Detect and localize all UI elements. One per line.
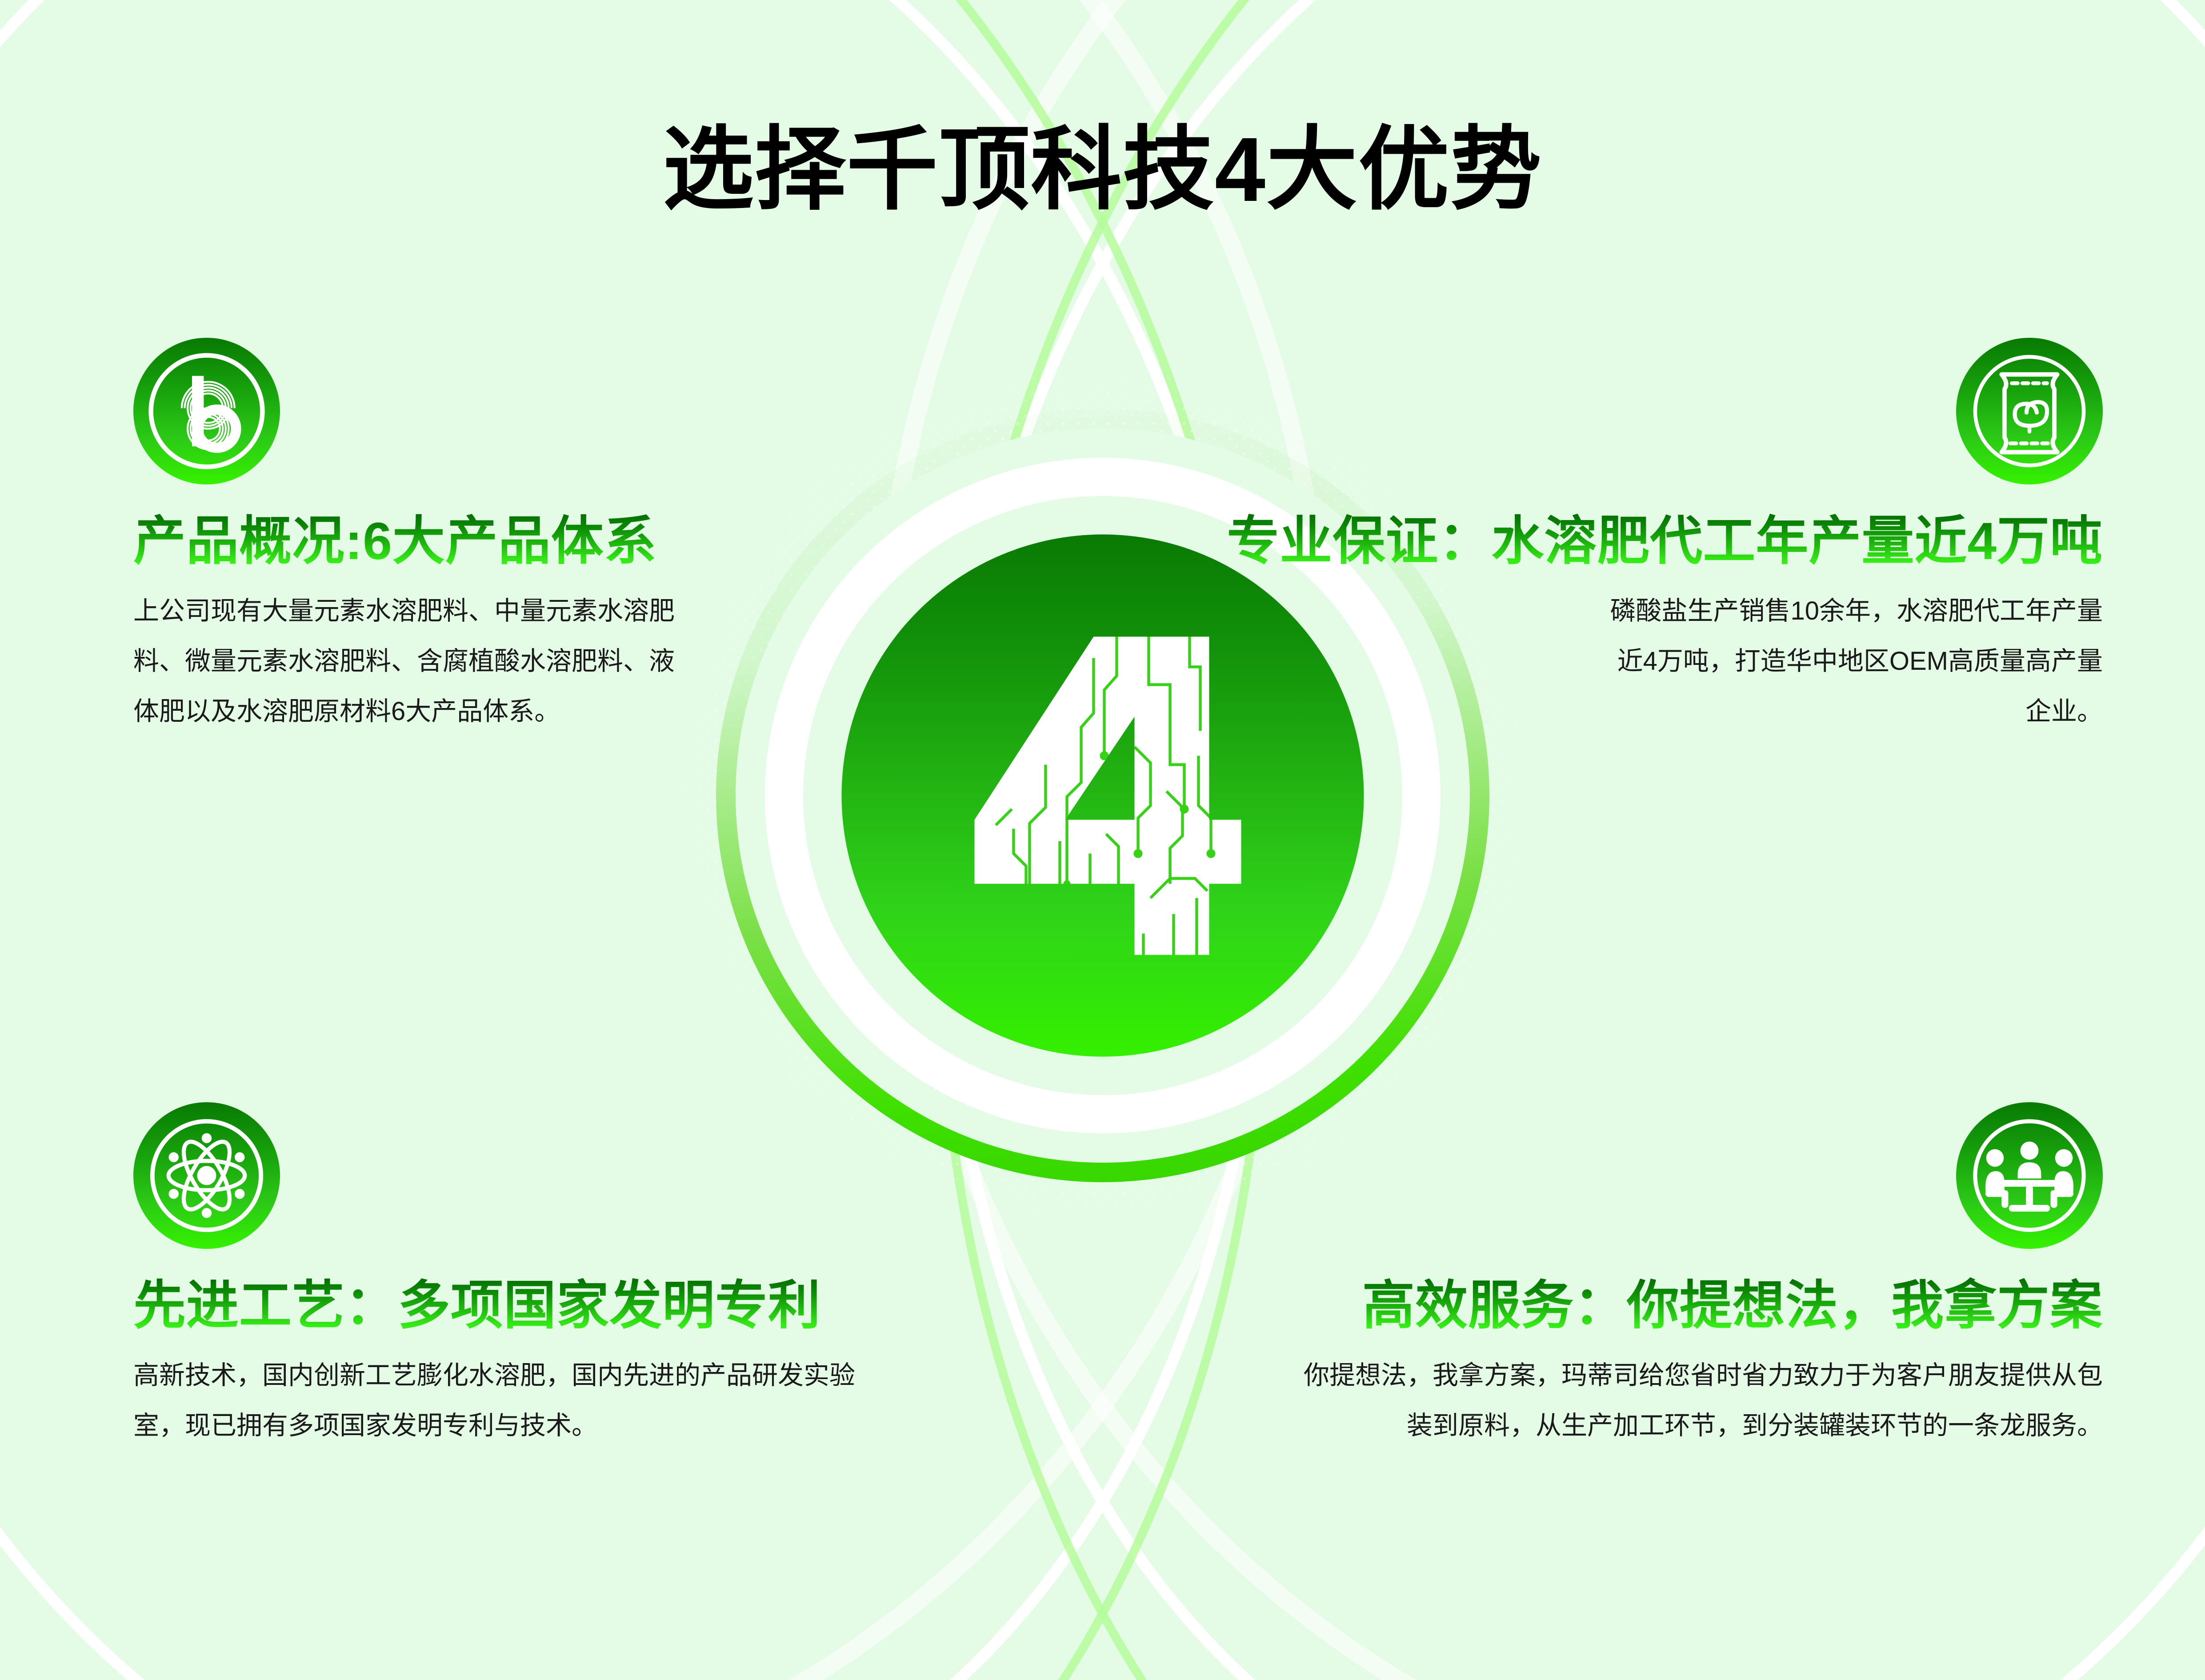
number-six-spiral-icon	[133, 338, 280, 484]
advantage-heading: 产品概况:6大产品体系	[133, 512, 711, 571]
advantage-body: 你提想法，我拿方案，玛蒂司给您省时省力致力于为客户朋友提供从包装到原料，从生产加…	[1303, 1350, 2103, 1451]
advantage-product-overview: 产品概况:6大产品体系 上公司现有大量元素水溶肥料、中量元素水溶肥料、微量元素水…	[133, 338, 711, 736]
advantage-professional-guarantee: 专业保证：水溶肥代工年产量近4万吨 磷酸盐生产销售10余年，水溶肥代工年产量近4…	[1156, 338, 2103, 736]
fertilizer-bag-icon	[1956, 338, 2103, 484]
advantage-body: 上公司现有大量元素水溶肥料、中量元素水溶肥料、微量元素水溶肥料、含腐植酸水溶肥料…	[133, 586, 689, 736]
atom-icon	[133, 1102, 280, 1249]
advantage-heading: 高效服务：你提想法，我拿方案	[1289, 1276, 2103, 1335]
advantage-heading: 先进工艺：多项国家发明专利	[133, 1276, 898, 1335]
meeting-table-icon	[1956, 1102, 2103, 1249]
advantage-body: 磷酸盐生产销售10余年，水溶肥代工年产量近4万吨，打造华中地区OEM高质量高产量…	[1601, 586, 2103, 736]
advantage-body: 高新技术，国内创新工艺膨化水溶肥，国内先进的产品研发实验室，现已拥有多项国家发明…	[133, 1350, 884, 1451]
advantage-advanced-technology: 先进工艺：多项国家发明专利 高新技术，国内创新工艺膨化水溶肥，国内先进的产品研发…	[133, 1102, 898, 1451]
page-title: 选择千顶科技4大优势	[0, 96, 2205, 228]
advantage-heading: 专业保证：水溶肥代工年产量近4万吨	[1156, 512, 2103, 571]
advantage-efficient-service: 高效服务：你提想法，我拿方案 你提想法，我拿方案，玛蒂司给您省时省力致力于为客户…	[1289, 1102, 2103, 1451]
